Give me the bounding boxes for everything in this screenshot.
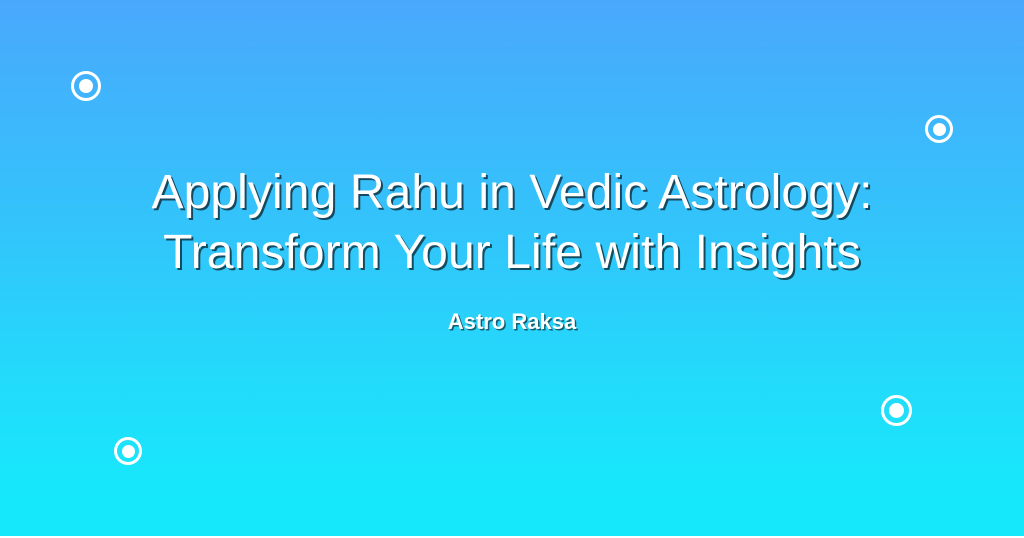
ring-inner-dot xyxy=(122,445,135,458)
slide-title: Applying Rahu in Vedic Astrology: Transf… xyxy=(0,163,1024,283)
ring-inner-dot xyxy=(889,403,904,418)
ring-dot-icon-bottom-left xyxy=(114,437,142,465)
ring-dot-icon-bottom-right xyxy=(881,395,912,426)
ring-dot-icon-top-left xyxy=(71,71,101,101)
ring-inner-dot xyxy=(933,123,946,136)
ring-inner-dot xyxy=(79,79,93,93)
presentation-slide: Applying Rahu in Vedic Astrology: Transf… xyxy=(0,0,1024,538)
slide-content: Applying Rahu in Vedic Astrology: Transf… xyxy=(0,163,1024,336)
ring-dot-icon-top-right xyxy=(925,115,953,143)
slide-subtitle: Astro Raksa xyxy=(0,308,1024,336)
